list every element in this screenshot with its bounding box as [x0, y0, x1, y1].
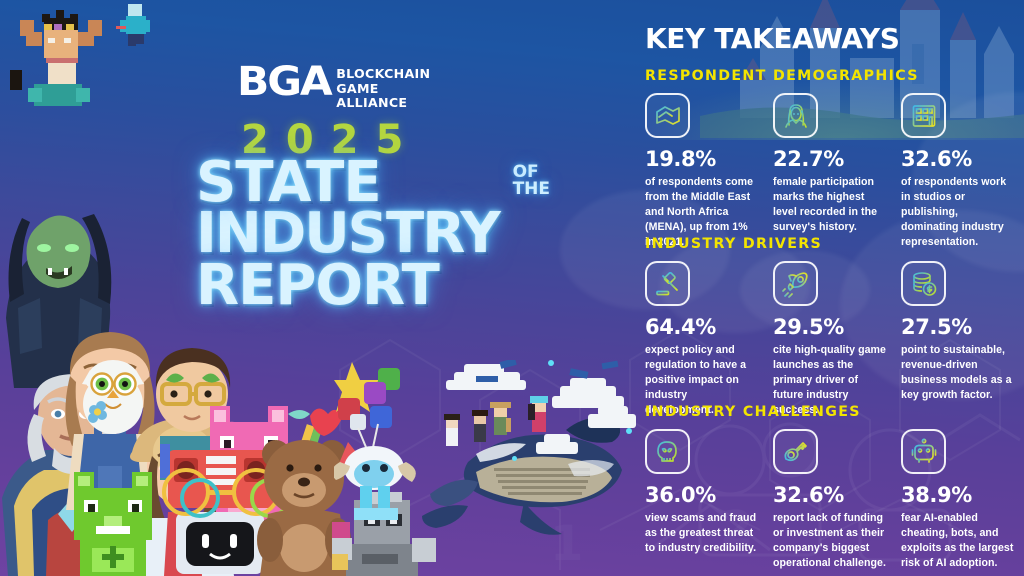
panel-heading: KEY TAKEAWAYS [645, 22, 900, 55]
bga-name-line-2: GAME [336, 82, 430, 97]
stat-description: view scams and fraud as the greatest thr… [645, 511, 758, 556]
stat-card: 64.4% expect policy and regulation to ha… [645, 261, 768, 418]
bga-name-line-3: ALLIANCE [336, 96, 430, 111]
section-heading: INDUSTRY DRIVERS [645, 236, 1024, 252]
stat-card: 19.8% of respondents come from the Middl… [645, 93, 768, 250]
infographic-canvas: 1 2 [0, 0, 1024, 576]
title-word-state: STATE [196, 150, 381, 215]
stat-card: 36.0% view scams and fraud as the greate… [645, 429, 768, 571]
title-line-state: STATE OF THE [196, 158, 536, 207]
key-takeaways-panel: KEY TAKEAWAYS RESPONDENT DEMOGRAPHICS [640, 0, 1024, 576]
section-cards: 36.0% view scams and fraud as the greate… [640, 429, 1024, 571]
title-of-the: OF THE [513, 164, 550, 199]
stat-card: 22.7% female participation marks the hig… [773, 93, 896, 250]
section-industry-challenges: INDUSTRY CHALLENGES 36.0% [640, 404, 1024, 571]
stat-card: 27.5% point to sustainable, revenue-driv… [901, 261, 1024, 418]
rocket-icon [773, 261, 818, 306]
stat-percent: 27.5% [901, 315, 1014, 339]
studio-building-icon [901, 93, 946, 138]
female-avatar-icon [773, 93, 818, 138]
money-hand-icon [773, 429, 818, 474]
bga-full-name: BLOCKCHAIN GAME ALLIANCE [336, 64, 430, 111]
robot-icon [901, 429, 946, 474]
stat-card: 32.6% of respondents work in studios or … [901, 93, 1024, 250]
stat-percent: 22.7% [773, 147, 886, 171]
stat-description: report lack of funding or investment as … [773, 511, 886, 571]
gavel-icon [645, 261, 690, 306]
section-heading: RESPONDENT DEMOGRAPHICS [645, 68, 1024, 84]
map-region-icon [645, 93, 690, 138]
coin-stack-icon [901, 261, 946, 306]
stat-percent: 29.5% [773, 315, 886, 339]
voxel-flying-character [6, 4, 116, 124]
section-cards: 64.4% expect policy and regulation to ha… [640, 261, 1024, 418]
section-respondent-demographics: RESPONDENT DEMOGRAPHICS 19.8% of respond [640, 68, 1024, 250]
skull-icon [645, 429, 690, 474]
section-industry-drivers: INDUSTRY DRIVERS 64.4% ex [640, 236, 1024, 418]
report-title: STATE OF THE INDUSTRY REPORT [196, 158, 536, 310]
stat-card: 29.5% cite high-quality game launches as… [773, 261, 896, 418]
bga-name-line-1: BLOCKCHAIN [336, 67, 430, 82]
section-heading: INDUSTRY CHALLENGES [645, 404, 1024, 420]
bga-wordmark: BGA [237, 64, 331, 101]
bga-logo-block: BGA BLOCKCHAIN GAME ALLIANCE 2025 [237, 64, 527, 160]
stat-card: 38.9% fear AI-enabled cheating, bots, an… [901, 429, 1024, 571]
stat-percent: 36.0% [645, 483, 758, 507]
stat-percent: 64.4% [645, 315, 758, 339]
title-word-the: THE [513, 181, 550, 198]
title-line-report: REPORT [196, 261, 536, 310]
stat-percent: 32.6% [773, 483, 886, 507]
stat-description: female participation marks the highest l… [773, 175, 886, 235]
stat-card: 32.6% report lack of funding or investme… [773, 429, 896, 571]
stat-description: point to sustainable, revenue-driven bus… [901, 343, 1014, 403]
stat-percent: 19.8% [645, 147, 758, 171]
section-cards: 19.8% of respondents come from the Middl… [640, 93, 1024, 250]
voxel-clouds [440, 360, 640, 480]
voxel-skier-character [110, 0, 160, 48]
title-line-industry: INDUSTRY [196, 209, 536, 258]
bga-logo-row: BGA BLOCKCHAIN GAME ALLIANCE [237, 64, 527, 111]
stat-percent: 38.9% [901, 483, 1014, 507]
stat-description: fear AI-enabled cheating, bots, and expl… [901, 511, 1014, 571]
stat-percent: 32.6% [901, 147, 1014, 171]
